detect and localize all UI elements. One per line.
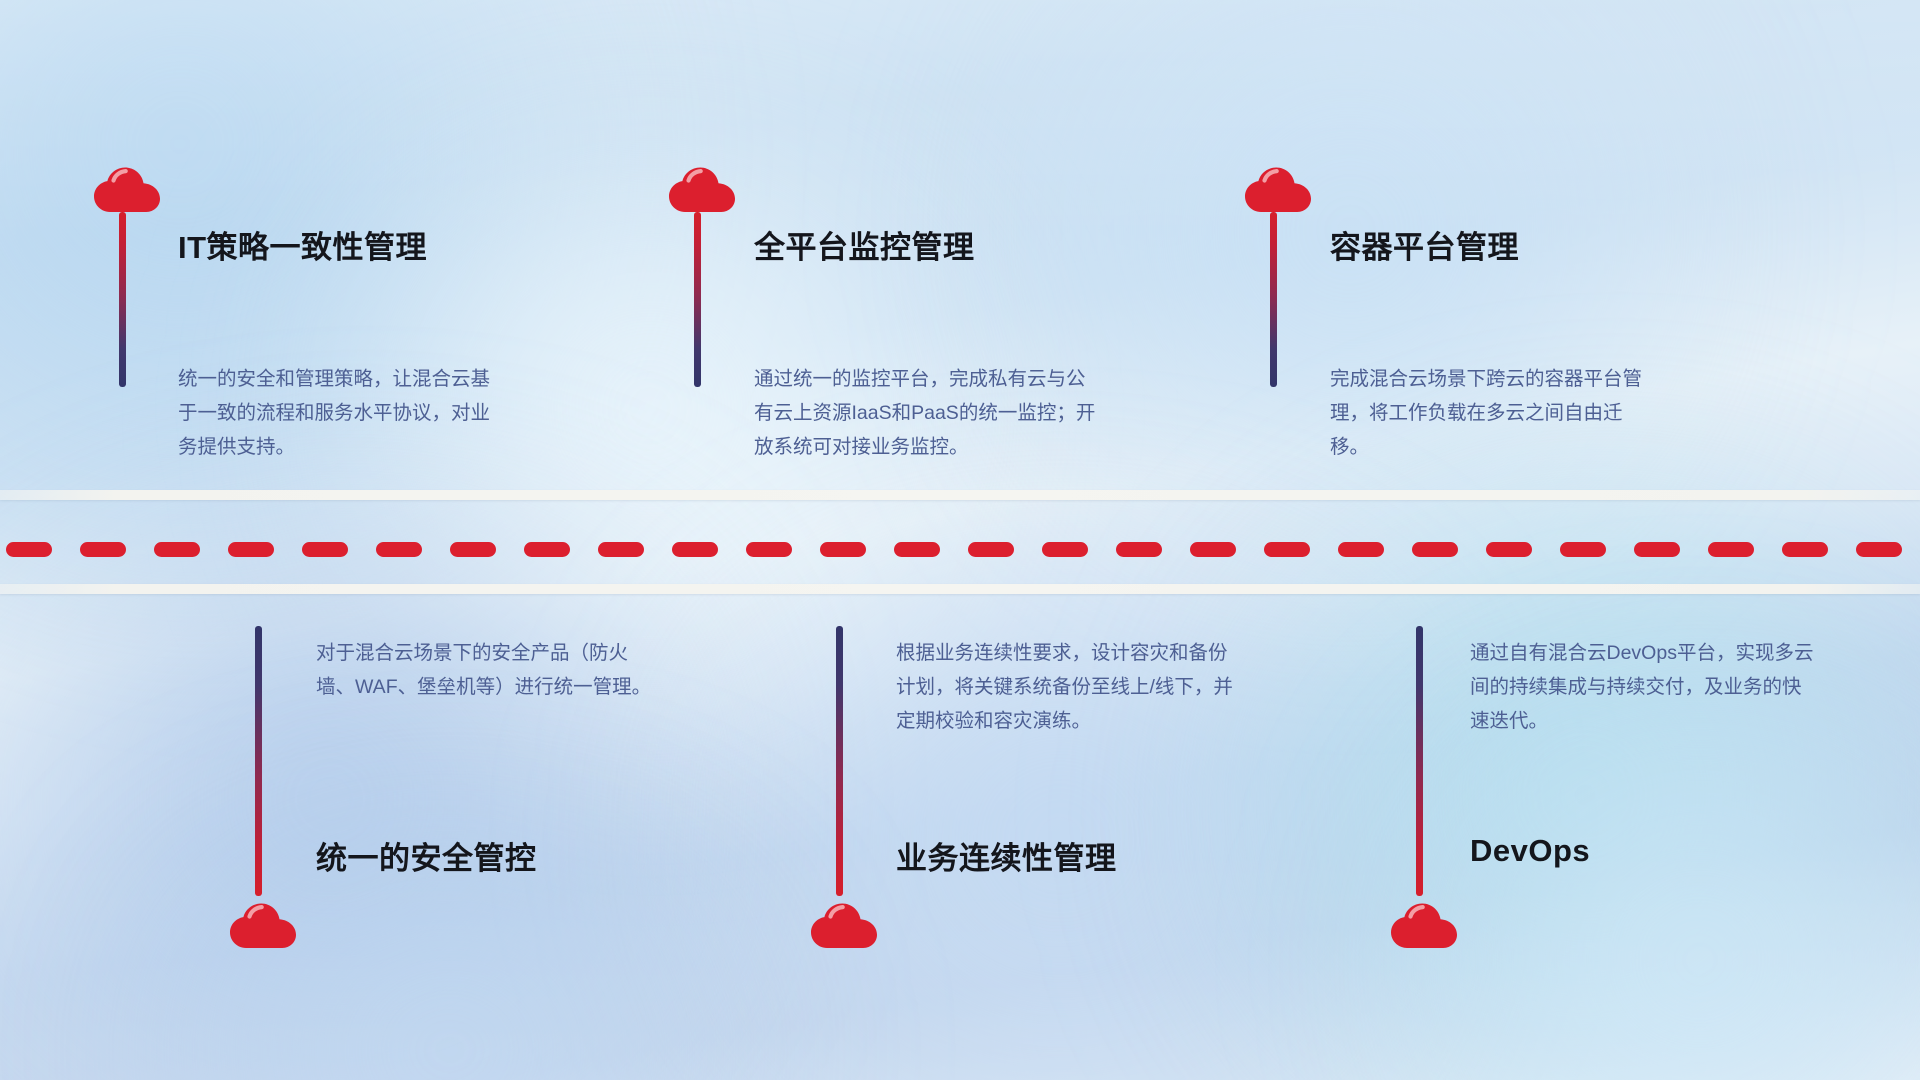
road-dash	[1338, 542, 1384, 557]
road-dash	[746, 542, 792, 557]
road-dash	[376, 542, 422, 557]
cloud-icon	[667, 160, 739, 216]
road-dash	[1042, 542, 1088, 557]
road-dash	[1708, 542, 1754, 557]
card-heading: 统一的安全管控	[316, 833, 537, 878]
card-heading: IT策略一致性管理	[178, 222, 427, 267]
road-rail-bottom	[0, 584, 1920, 594]
road-dash	[228, 542, 274, 557]
card-heading: 业务连续性管理	[896, 833, 1117, 878]
road-dash	[1412, 542, 1458, 557]
road-rail-top	[0, 490, 1920, 500]
cloud-icon	[809, 896, 881, 952]
road-dash	[524, 542, 570, 557]
infographic-canvas: IT策略一致性管理 统一的安全和管理策略，让混合云基于一致的流程和服务水平协议，…	[0, 0, 1920, 1080]
connector-line	[836, 626, 843, 896]
connector-line	[255, 626, 262, 896]
road-dash	[450, 542, 496, 557]
road-dash	[1190, 542, 1236, 557]
connector-line	[694, 212, 701, 387]
card-body: 完成混合云场景下跨云的容器平台管理，将工作负载在多云之间自由迁移。	[1330, 362, 1660, 464]
connector-line	[119, 212, 126, 387]
card-body: 统一的安全和管理策略，让混合云基于一致的流程和服务水平协议，对业务提供支持。	[178, 362, 508, 464]
connector-line	[1270, 212, 1277, 387]
road-dash	[968, 542, 1014, 557]
road-dash	[598, 542, 644, 557]
card-body: 根据业务连续性要求，设计容灾和备份计划，将关键系统备份至线上/线下，并定期校验和…	[896, 636, 1241, 738]
road-dash	[1116, 542, 1162, 557]
connector-line	[1416, 626, 1423, 896]
card-heading: 容器平台管理	[1330, 222, 1519, 267]
road-dash	[894, 542, 940, 557]
card-heading: 全平台监控管理	[754, 222, 975, 267]
cloud-icon	[1389, 896, 1461, 952]
road-dash	[6, 542, 52, 557]
road-dash	[154, 542, 200, 557]
road-dash	[672, 542, 718, 557]
road-dash	[1560, 542, 1606, 557]
road-dash	[1264, 542, 1310, 557]
road-dash	[1782, 542, 1828, 557]
card-body: 对于混合云场景下的安全产品（防火墙、WAF、堡垒机等）进行统一管理。	[316, 636, 661, 704]
card-body: 通过统一的监控平台，完成私有云与公有云上资源IaaS和PaaS的统一监控；开放系…	[754, 362, 1099, 464]
card-body: 通过自有混合云DevOps平台，实现多云间的持续集成与持续交付，及业务的快速迭代…	[1470, 636, 1815, 738]
cloud-icon	[1243, 160, 1315, 216]
road-dash	[302, 542, 348, 557]
cloud-icon	[92, 160, 164, 216]
card-heading: DevOps	[1470, 833, 1590, 869]
road-dash	[1856, 542, 1902, 557]
road-dash	[1486, 542, 1532, 557]
cloud-icon	[228, 896, 300, 952]
road-dash	[820, 542, 866, 557]
road-dash	[80, 542, 126, 557]
road-center-dashes	[0, 540, 1920, 558]
road-dash	[1634, 542, 1680, 557]
